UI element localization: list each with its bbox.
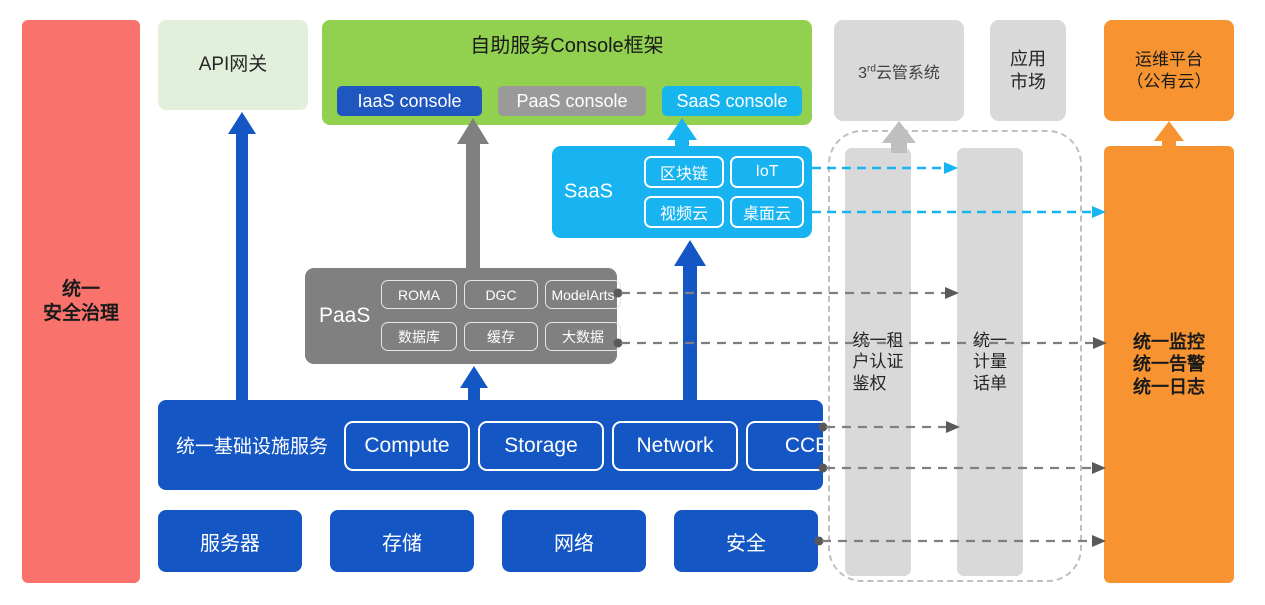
architecture-diagram: 统一 安全治理 API网关 自助服务Console框架 IaaS console… [0, 0, 1265, 605]
paas-tag-roma[interactable]: ROMA [381, 280, 457, 309]
saas-tag-iot[interactable]: IoT [730, 156, 804, 188]
third-cloud-superscript: rd [867, 63, 876, 74]
saas-tag-blockchain-label: 区块链 [660, 160, 708, 184]
app-market-box: 应用 市场 [990, 20, 1066, 121]
hardware-security-label: 安全 [726, 527, 766, 556]
saas-tag-desktop-cloud-label: 桌面云 [743, 200, 791, 224]
arrow-paas-to-console [455, 118, 491, 270]
hardware-storage-label: 存储 [382, 527, 422, 556]
paas-tag-modelarts[interactable]: ModelArts [545, 280, 621, 309]
api-gateway-label: API网关 [199, 53, 268, 77]
paas-tag-bigdata-label: 大数据 [562, 327, 604, 347]
arrow-shared-to-third-cloud [880, 121, 918, 153]
infra-tag-storage[interactable]: Storage [478, 421, 604, 471]
infra-tag-cce-label: CCE [785, 434, 829, 458]
paas-title: PaaS [319, 304, 370, 328]
infra-tag-network-label: Network [636, 434, 713, 458]
ops-platform-column: 统一监控 统一告警 统一日志 [1104, 146, 1234, 583]
paas-tag-dgc-label: DGC [485, 287, 516, 303]
ops-platform-column-label: 统一监控 统一告警 统一日志 [1133, 331, 1205, 399]
hardware-network-label: 网络 [554, 527, 594, 556]
unified-infrastructure-title: 统一基础设施服务 [176, 432, 328, 459]
paas-tag-dgc[interactable]: DGC [464, 280, 538, 309]
paas-tag-database[interactable]: 数据库 [381, 322, 457, 351]
hardware-box-storage: 存储 [330, 510, 474, 572]
saas-tag-iot-label: IoT [755, 163, 778, 181]
hardware-box-security: 安全 [674, 510, 818, 572]
infra-tag-storage-label: Storage [504, 434, 578, 458]
paas-console-label: PaaS console [516, 91, 627, 112]
arrow-ops-column-to-header [1153, 121, 1185, 149]
arrow-infra-to-api-gateway [226, 112, 258, 402]
paas-tag-cache[interactable]: 缓存 [464, 322, 538, 351]
paas-tag-roma-label: ROMA [398, 287, 440, 303]
saas-title: SaaS [564, 181, 613, 204]
infra-tag-compute[interactable]: Compute [344, 421, 470, 471]
dashed-arrow-saas-to-auth [812, 162, 960, 174]
api-gateway-box: API网关 [158, 20, 308, 110]
saas-console-chip[interactable]: SaaS console [662, 86, 802, 116]
dashed-arrow-paas-to-auth [613, 286, 963, 300]
security-governance-label: 统一 安全治理 [43, 278, 119, 326]
saas-tag-video-cloud-label: 视频云 [660, 200, 708, 224]
paas-block: PaaS ROMA DGC ModelArts 数据库 缓存 大数据 [305, 268, 617, 364]
dashed-arrow-saas-to-ops [812, 206, 1108, 218]
hardware-server-label: 服务器 [200, 527, 260, 556]
infra-tag-network[interactable]: Network [612, 421, 738, 471]
saas-tag-video-cloud[interactable]: 视频云 [644, 196, 724, 228]
arrow-infra-to-paas [459, 366, 489, 402]
third-party-cloud-management-box: 3rd云管系统 [834, 20, 964, 121]
security-governance-pillar: 统一 安全治理 [22, 20, 140, 583]
arrow-saas-to-console [665, 118, 699, 150]
saas-tag-blockchain[interactable]: 区块链 [644, 156, 724, 188]
unified-infrastructure-bar: 统一基础设施服务 Compute Storage Network CCE [158, 400, 823, 490]
iaas-console-label: IaaS console [357, 91, 461, 112]
hardware-box-server: 服务器 [158, 510, 302, 572]
paas-console-chip[interactable]: PaaS console [498, 86, 646, 116]
paas-tag-cache-label: 缓存 [487, 327, 515, 347]
ops-platform-header-box: 运维平台 （公有云） [1104, 20, 1234, 121]
third-cloud-label: 3rd云管系统 [858, 59, 940, 83]
app-market-label: 应用 市场 [1010, 48, 1046, 93]
paas-tag-modelarts-label: ModelArts [551, 287, 614, 303]
saas-block: SaaS 区块链 IoT 视频云 桌面云 [552, 146, 812, 238]
saas-console-label: SaaS console [676, 91, 787, 112]
paas-tag-database-label: 数据库 [398, 327, 440, 347]
dashed-arrow-infra-to-ops [818, 461, 1110, 475]
paas-tag-bigdata[interactable]: 大数据 [545, 322, 621, 351]
dashed-arrow-paas-to-ops [613, 336, 1111, 350]
hardware-box-network: 网络 [502, 510, 646, 572]
infra-tag-compute-label: Compute [364, 434, 449, 458]
arrow-infra-to-saas [673, 240, 707, 402]
console-framework-title: 自助服务Console框架 [322, 29, 812, 58]
dashed-arrow-hardware-to-ops [814, 534, 1110, 548]
ops-platform-header-label: 运维平台 （公有云） [1127, 49, 1212, 92]
self-service-console-framework: 自助服务Console框架 IaaS console PaaS console … [322, 20, 812, 125]
iaas-console-chip[interactable]: IaaS console [337, 86, 482, 116]
dashed-arrow-infra-to-auth [818, 420, 964, 434]
saas-tag-desktop-cloud[interactable]: 桌面云 [730, 196, 804, 228]
